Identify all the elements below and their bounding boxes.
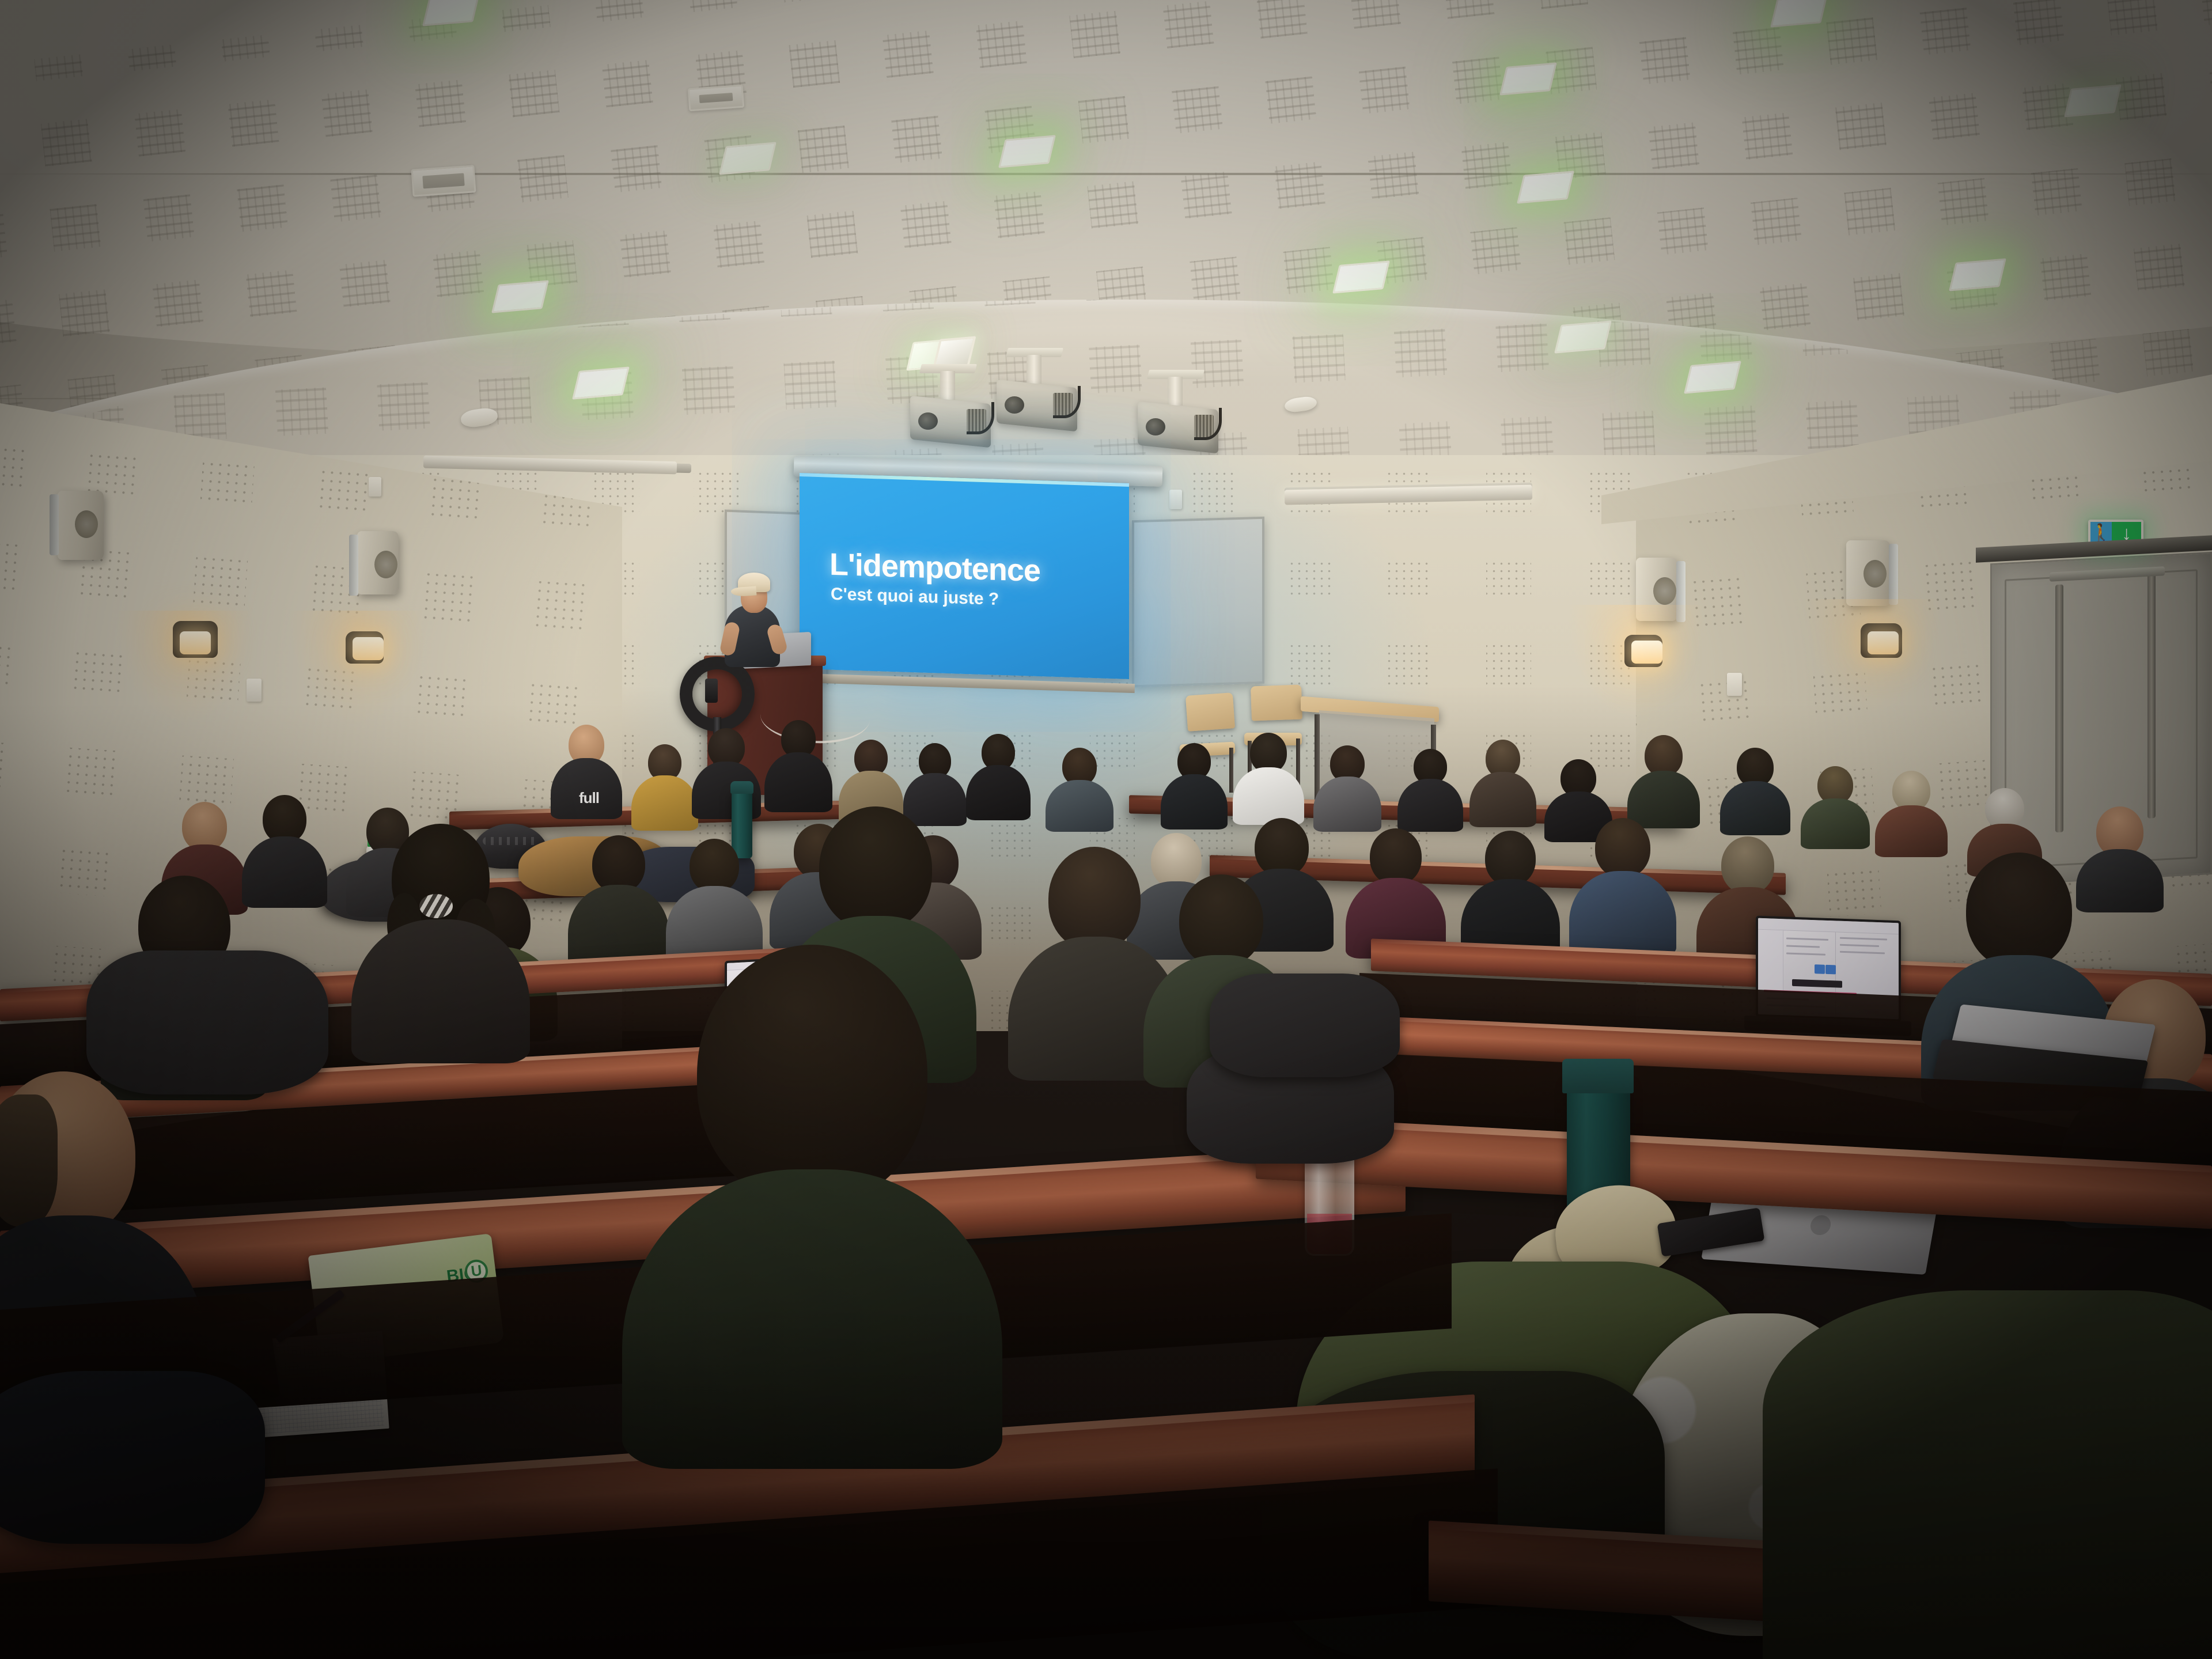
- wall-switch-plate[interactable]: [1169, 490, 1182, 509]
- lecture-hall-photo: L'idempotence C'est quoi au juste ? 🚶 ↓: [0, 0, 2212, 1659]
- audience-member: [1169, 743, 1219, 820]
- whiteboard-right: [1132, 517, 1264, 687]
- ceiling-projector: [1138, 403, 1218, 459]
- thermos-cap[interactable]: [730, 781, 753, 794]
- audience-member: [662, 945, 962, 1463]
- wall-speaker: [58, 491, 104, 560]
- presenter-cap: [738, 573, 770, 592]
- wall-sconce: [1861, 623, 1902, 658]
- apple-logo-icon: [1806, 1207, 1835, 1236]
- stage-chair-back[interactable]: [1251, 684, 1302, 721]
- wall-sconce: [173, 621, 218, 658]
- ceiling-vent-plate: [688, 85, 745, 112]
- audience-member: [1054, 748, 1105, 821]
- ceiling-vent-plate: [411, 165, 476, 197]
- slide-subtitle: C'est quoi au juste ?: [831, 585, 999, 609]
- ceiling-downlight: [1499, 62, 1557, 95]
- ceiling-downlight: [1554, 320, 1612, 353]
- thermos-cap[interactable]: [1562, 1059, 1634, 1093]
- presenter: [720, 569, 789, 673]
- wall-speaker: [357, 531, 399, 594]
- ceiling-downlight: [1949, 258, 2006, 291]
- backpack[interactable]: [1210, 974, 1400, 1077]
- ceiling-downlight: [491, 280, 549, 313]
- audience-member: [1475, 831, 1546, 954]
- audience-member: [911, 743, 959, 817]
- wall-speaker: [1636, 558, 1677, 621]
- audience-member: [253, 795, 316, 906]
- slide-title: L'idempotence: [829, 547, 1040, 589]
- audience-member: [1809, 766, 1862, 839]
- audience-member: [1820, 1256, 2212, 1659]
- ceiling-downlight: [572, 366, 630, 399]
- audience-member: [1406, 749, 1455, 824]
- audience-member: [974, 734, 1023, 812]
- projector-screen: L'idempotence C'est quoi au juste ?: [800, 473, 1129, 679]
- hair-scrunchie: [419, 894, 453, 918]
- audience-member: [1884, 771, 1939, 846]
- wall-speaker: [1846, 540, 1890, 606]
- wall-switch-plate[interactable]: [369, 477, 381, 497]
- ceiling-downlight: [1332, 260, 1390, 293]
- ring-light-phone-mount: [705, 679, 718, 703]
- audience-member: [1478, 740, 1528, 819]
- wall-switch-plate[interactable]: [247, 679, 262, 702]
- ceiling-downlight: [1684, 361, 1741, 393]
- door-push-bar[interactable]: [2147, 570, 2156, 819]
- wall-sconce: [346, 631, 384, 664]
- running-man-icon: 🚶: [2090, 525, 2112, 542]
- audience-member: [374, 824, 507, 1054]
- audience-member: full: [562, 725, 611, 811]
- audience-member: [2085, 806, 2154, 899]
- ceiling-downlight: [998, 135, 1056, 168]
- coat-on-bench: [0, 1371, 265, 1544]
- stage-table-leg: [1315, 714, 1320, 800]
- audience-member: [1728, 748, 1782, 826]
- ceiling-downlight: [719, 142, 777, 175]
- wall-switch-plate[interactable]: [1727, 673, 1742, 696]
- audience-member: [1584, 818, 1661, 949]
- audience-member: [680, 839, 749, 960]
- ceiling-projector: [910, 397, 991, 453]
- audience-member: [1636, 735, 1691, 820]
- audience-member: [1031, 847, 1158, 1077]
- wall-sconce: [1624, 635, 1662, 667]
- stage-chair-back[interactable]: [1185, 692, 1235, 732]
- ceiling-downlight: [2064, 84, 2122, 117]
- audience-member: [1322, 745, 1373, 823]
- audience-member: [642, 744, 688, 819]
- door-push-bar[interactable]: [2055, 584, 2063, 832]
- ceiling-downlight: [1517, 171, 1574, 203]
- hoodie-logo: full: [579, 789, 599, 807]
- audience-member: [773, 720, 824, 806]
- audience-member: [1241, 733, 1296, 817]
- stage-chair-leg: [1229, 748, 1233, 793]
- audience-member: [582, 835, 656, 962]
- ceiling-projector: [997, 381, 1077, 437]
- audience-member: [847, 740, 895, 816]
- audience-member: [1359, 828, 1432, 953]
